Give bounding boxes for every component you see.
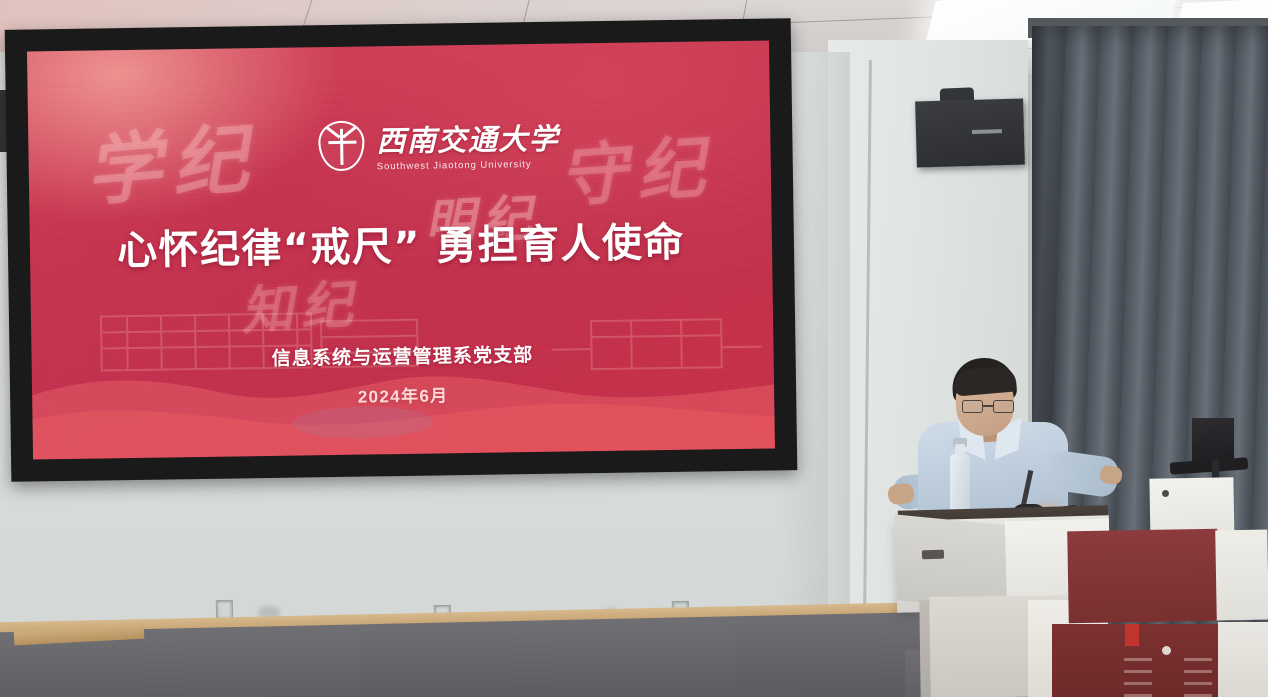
university-name-en: Southwest Jiaotong University [377, 159, 560, 173]
lectern-red-marker [1125, 624, 1139, 646]
projection-screen: 学纪 守纪 明纪 知纪 西南交通大学 Southwest Jiaotong Un… [27, 41, 775, 460]
watermark-shouji: 守纪 [556, 111, 717, 220]
lectern-side-panel [1215, 530, 1268, 621]
av-equipment-box [1192, 418, 1234, 464]
emblem-wing-left-icon [326, 126, 341, 138]
watermark-xueji: 学纪 [80, 96, 262, 220]
wall-mounted-loudspeaker [915, 99, 1025, 168]
speaker-brand-mark [972, 129, 1002, 134]
lectern-red-panel-upper [1067, 529, 1219, 624]
university-logo: 西南交通大学 Southwest Jiaotong University [318, 116, 559, 174]
eyeglass-bridge [983, 405, 993, 407]
slide-main-title: 心怀纪律“戒尺” 勇担育人使命 [30, 209, 773, 278]
eyeglass-lens-left [962, 400, 983, 413]
lectern-panel-text-column [1184, 658, 1212, 697]
lectern-panel-text-line [1124, 682, 1152, 685]
university-name-block: 西南交通大学 Southwest Jiaotong University [376, 116, 559, 173]
lecture-hall-screenshot: 学纪 守纪 明纪 知纪 西南交通大学 Southwest Jiaotong Un… [0, 0, 1268, 697]
eyeglass-lens-right [993, 400, 1014, 413]
lectern-panel-text-line [1184, 682, 1212, 685]
lectern-side-panel-lower [1218, 622, 1268, 697]
lectern-panel-text-line [1124, 658, 1152, 661]
slide-hill-illustration [31, 288, 775, 459]
shield-emblem-icon [318, 121, 365, 172]
lectern-panel-text-line [1184, 658, 1212, 661]
university-name-cn: 西南交通大学 [376, 116, 559, 161]
projection-screen-frame: 学纪 守纪 明纪 知纪 西南交通大学 Southwest Jiaotong Un… [5, 18, 798, 482]
lectern-panel-text-column [1124, 658, 1152, 697]
emblem-wing-right-icon [342, 126, 356, 138]
lectern-panel-text-line [1184, 670, 1212, 673]
eyeglasses-icon [962, 400, 1014, 413]
lectern-panel-text-line [1124, 670, 1152, 673]
panel-screw [1162, 490, 1169, 497]
lectern-drawer-handle[interactable] [922, 550, 944, 560]
lectern-light-spot [1162, 646, 1171, 655]
